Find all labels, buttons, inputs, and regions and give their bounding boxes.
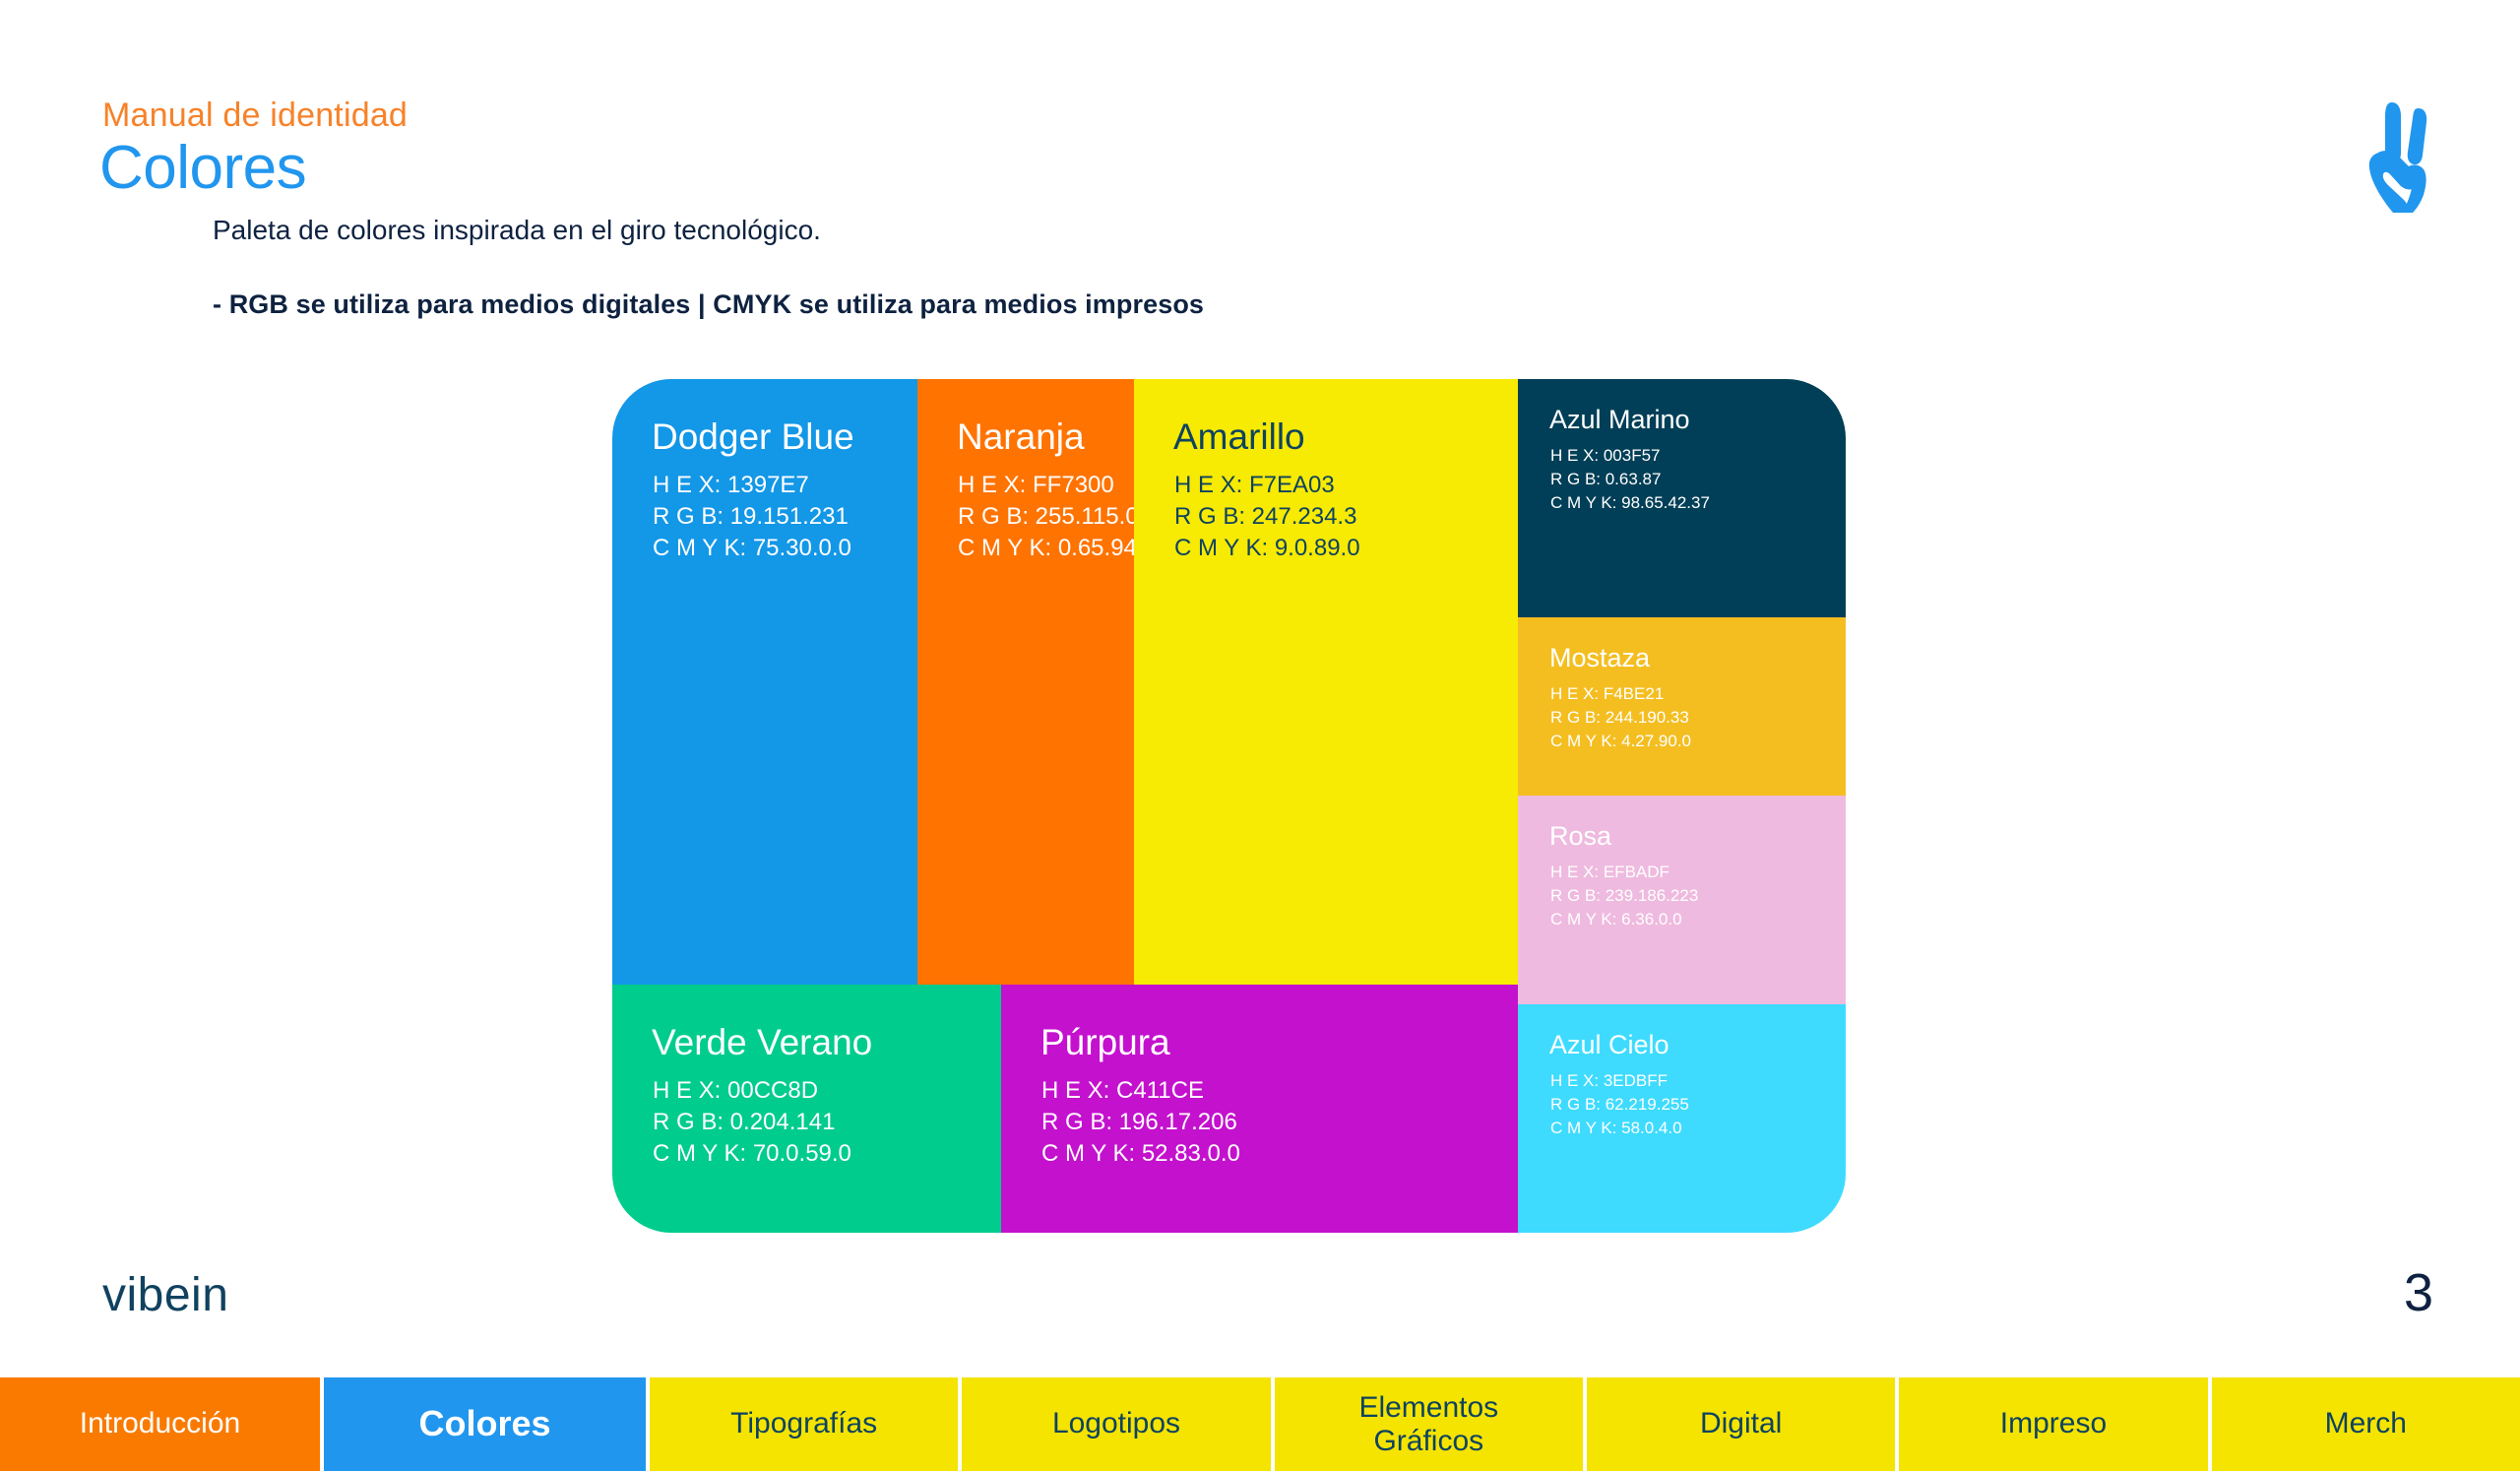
swatch-cmyk: C M Y K: 58.0.4.0 <box>1550 1119 1682 1138</box>
section-tab-bar: Introducción Colores Tipografías Logotip… <box>0 1377 2520 1471</box>
swatch-amarillo[interactable]: Amarillo H E X: F7EA03 R G B: 247.234.3 … <box>1134 379 1518 985</box>
swatch-hex: H E X: 003F57 <box>1550 446 1661 466</box>
swatch-azul-cielo[interactable]: Azul Cielo H E X: 3EDBFF R G B: 62.219.2… <box>1518 1004 1846 1233</box>
swatch-hex: H E X: EFBADF <box>1550 863 1669 882</box>
tab-digital[interactable]: Digital <box>1587 1377 1895 1471</box>
tab-logotipos[interactable]: Logotipos <box>962 1377 1270 1471</box>
swatch-dodger-blue[interactable]: Dodger Blue H E X: 1397E7 R G B: 19.151.… <box>612 379 917 985</box>
usage-note: - RGB se utiliza para medios digitales |… <box>213 289 1204 320</box>
swatch-rgb: R G B: 0.63.87 <box>1550 470 1661 489</box>
swatch-cmyk: C M Y K: 70.0.59.0 <box>653 1140 851 1168</box>
tab-introduccion[interactable]: Introducción <box>0 1377 320 1471</box>
page-title: Colores <box>99 133 306 203</box>
swatch-cmyk: C M Y K: 75.30.0.0 <box>653 535 851 562</box>
swatch-rgb: R G B: 255.115.0 <box>958 503 1134 531</box>
slide-colores: Manual de identidad Colores Paleta de co… <box>0 0 2520 1471</box>
swatch-name: Azul Cielo <box>1549 1030 1669 1060</box>
tab-merch[interactable]: Merch <box>2212 1377 2520 1471</box>
swatch-name: Amarillo <box>1173 416 1305 458</box>
swatch-rosa[interactable]: Rosa H E X: EFBADF R G B: 239.186.223 C … <box>1518 796 1846 1004</box>
swatch-cmyk: C M Y K: 52.83.0.0 <box>1041 1140 1240 1168</box>
brand-wordmark: vibein <box>102 1268 228 1322</box>
swatch-hex: H E X: F4BE21 <box>1550 684 1664 704</box>
swatch-rgb: R G B: 244.190.33 <box>1550 708 1689 728</box>
swatch-verde-verano[interactable]: Verde Verano H E X: 00CC8D R G B: 0.204.… <box>612 985 1001 1233</box>
swatch-name: Naranja <box>957 416 1085 458</box>
swatch-name: Rosa <box>1549 821 1611 852</box>
section-eyebrow: Manual de identidad <box>102 96 408 135</box>
swatch-rgb: R G B: 19.151.231 <box>653 503 849 531</box>
swatch-hex: H E X: F7EA03 <box>1174 472 1335 499</box>
swatch-cmyk: C M Y K: 6.36.0.0 <box>1550 910 1682 929</box>
swatch-rgb: R G B: 239.186.223 <box>1550 886 1698 906</box>
swatch-rgb: R G B: 196.17.206 <box>1041 1109 1237 1136</box>
page-subtitle: Paleta de colores inspirada en el giro t… <box>213 215 821 246</box>
swatch-rgb: R G B: 0.204.141 <box>653 1109 835 1136</box>
swatch-mostaza[interactable]: Mostaza H E X: F4BE21 R G B: 244.190.33 … <box>1518 617 1846 796</box>
swatch-name: Dodger Blue <box>652 416 854 458</box>
swatch-hex: H E X: 3EDBFF <box>1550 1071 1668 1091</box>
swatch-purpura[interactable]: Púrpura H E X: C411CE R G B: 196.17.206 … <box>1001 985 1518 1233</box>
page-number: 3 <box>2404 1262 2433 1323</box>
peace-hand-icon <box>2362 95 2453 213</box>
swatch-name: Mostaza <box>1549 643 1650 673</box>
tab-tipografias[interactable]: Tipografías <box>650 1377 958 1471</box>
swatch-naranja[interactable]: Naranja H E X: FF7300 R G B: 255.115.0 C… <box>917 379 1134 985</box>
swatch-cmyk: C M Y K: 4.27.90.0 <box>1550 732 1691 751</box>
swatch-hex: H E X: C411CE <box>1041 1077 1204 1105</box>
swatch-rgb: R G B: 62.219.255 <box>1550 1095 1689 1115</box>
swatch-hex: H E X: 1397E7 <box>653 472 809 499</box>
swatch-name: Verde Verano <box>652 1022 872 1063</box>
tab-impreso[interactable]: Impreso <box>1899 1377 2207 1471</box>
color-palette-board: Dodger Blue H E X: 1397E7 R G B: 19.151.… <box>612 379 1846 1233</box>
swatch-cmyk: C M Y K: 0.65.94.0 <box>958 535 1134 562</box>
swatch-name: Púrpura <box>1040 1022 1170 1063</box>
tab-elementos-graficos[interactable]: ElementosGráficos <box>1275 1377 1583 1471</box>
swatch-cmyk: C M Y K: 9.0.89.0 <box>1174 535 1360 562</box>
swatch-name: Azul Marino <box>1549 405 1690 435</box>
swatch-cmyk: C M Y K: 98.65.42.37 <box>1550 493 1710 513</box>
swatch-azul-marino[interactable]: Azul Marino H E X: 003F57 R G B: 0.63.87… <box>1518 379 1846 617</box>
tab-colores[interactable]: Colores <box>324 1377 646 1471</box>
swatch-rgb: R G B: 247.234.3 <box>1174 503 1356 531</box>
swatch-hex: H E X: 00CC8D <box>653 1077 818 1105</box>
swatch-hex: H E X: FF7300 <box>958 472 1114 499</box>
